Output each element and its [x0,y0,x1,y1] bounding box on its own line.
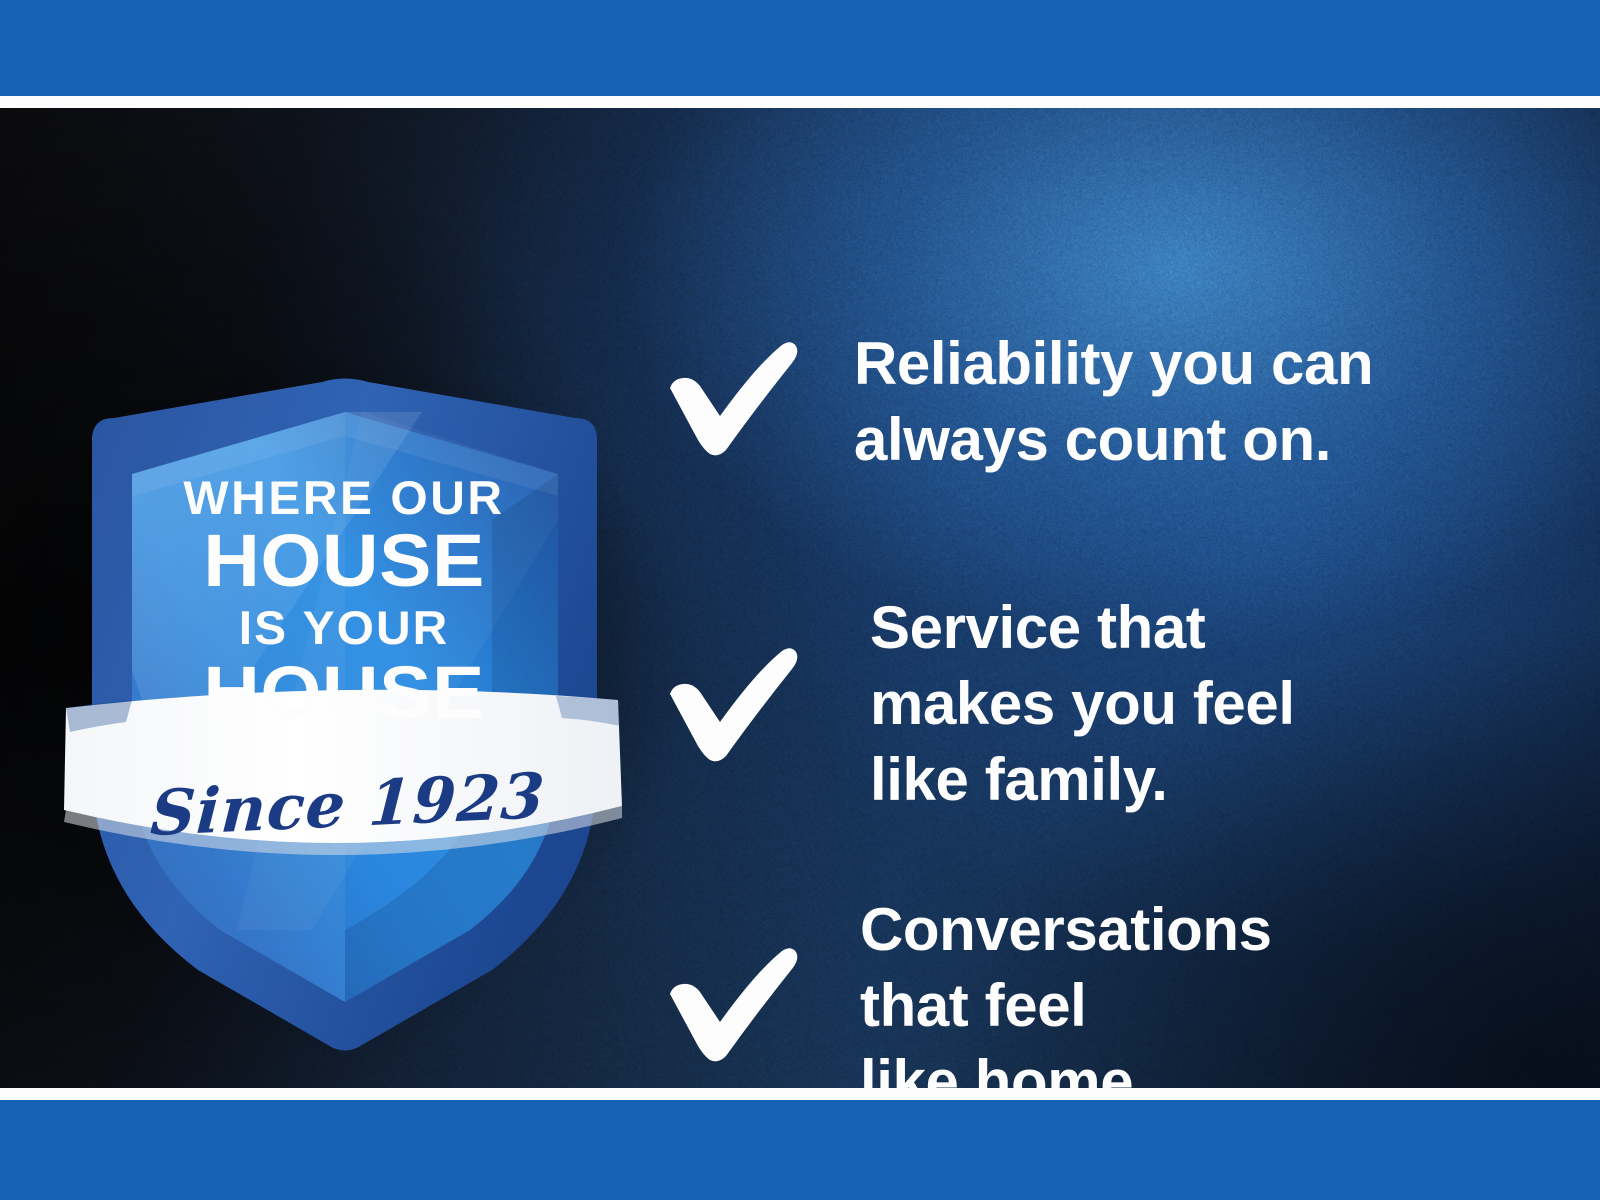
top-divider [0,96,1600,108]
benefit-text: Reliability you can always count on. [854,326,1373,478]
bottom-brand-bar [0,1100,1600,1200]
benefit-text: Service that makes you feel like family. [870,590,1295,819]
checkmark-icon [664,326,824,456]
checkmark-icon [664,892,824,1062]
top-brand-bar [0,0,1600,96]
benefit-text: Conversations that feel like home. [860,892,1272,1088]
benefit-item: Service that makes you feel like family. [664,590,1564,819]
ribbon-banner [64,690,622,855]
benefit-item: Reliability you can always count on. [664,326,1564,478]
benefit-item: Conversations that feel like home. [664,892,1564,1088]
checkmark-icon [664,590,824,762]
promo-graphic: WHERE OUR HOUSE IS YOUR HOUSE Since 1923… [0,0,1600,1200]
bottom-divider [0,1088,1600,1100]
shield-logo: WHERE OUR HOUSE IS YOUR HOUSE Since 1923 [62,370,622,1060]
hero-panel: WHERE OUR HOUSE IS YOUR HOUSE Since 1923… [0,108,1600,1088]
benefits-list: Reliability you can always count on. Ser… [664,308,1564,1088]
